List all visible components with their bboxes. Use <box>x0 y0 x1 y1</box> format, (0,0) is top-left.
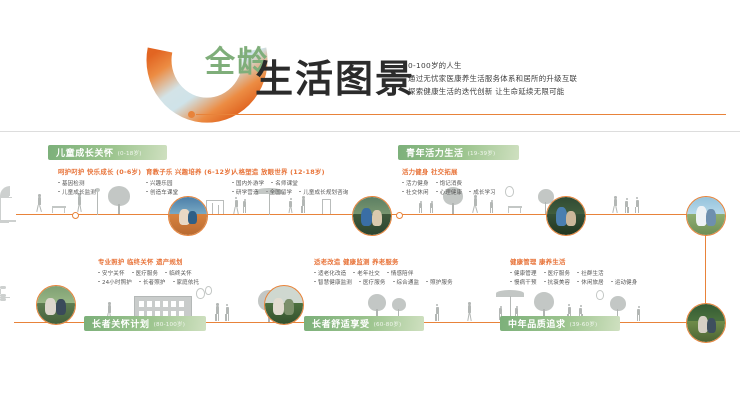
detail-head: 人格塑造 放眼世界 (12-18岁) <box>232 167 348 176</box>
detail-item: 抗衰美容 <box>544 278 571 286</box>
section-tag-children-title: 儿童成长关怀 <box>56 146 114 159</box>
detail-item: 心理健康 <box>436 188 463 196</box>
detail-item: 名师课堂 <box>271 179 298 187</box>
section-tag-midlife-age: (39-60岁) <box>570 320 598 328</box>
detail-item: 兴趣乐园 <box>146 179 173 187</box>
detail-item: 社群生活 <box>577 269 604 277</box>
subtitle-line-2: 通过无忧家医康养生活服务体系和居所的升级互联 <box>408 73 638 86</box>
photo-elder-pair[interactable] <box>36 285 76 325</box>
section-tag-youth-age: (19-39岁) <box>468 149 496 157</box>
detail-item: 医疗服务 <box>359 278 386 286</box>
section-tag-children[interactable]: 儿童成长关怀 (0-18岁) <box>48 145 167 160</box>
detail-item: 基因检测 <box>58 179 85 187</box>
detail-item: 国内外游学 <box>232 179 264 187</box>
detail-item: 智慧健康监测 <box>314 278 352 286</box>
detail-item: 创造车课堂 <box>146 188 178 196</box>
photo-midlife-walk-image <box>265 286 303 324</box>
detail-head: 育教子乐 兴趣培养 (6-12岁) <box>146 167 234 176</box>
detail-item: 成长学习 <box>469 188 496 196</box>
detail-children-group-2: 人格塑造 放眼世界 (12-18岁) 国内外游学 名师课堂 研学营造 全国留学 … <box>232 167 348 196</box>
detail-item: 医疗服务 <box>544 269 571 277</box>
section-tag-midlife[interactable]: 中年品质追求 (39-60岁) <box>500 316 620 331</box>
detail-item: 健康管理 <box>510 269 537 277</box>
detail-item: 情感陪伴 <box>387 269 414 277</box>
detail-head: 活力健身 社交拓展 <box>402 167 496 176</box>
subtitle-line-1: 0-100岁的人生 <box>408 60 638 73</box>
photo-couple-run[interactable] <box>686 196 726 236</box>
section-tag-children-age: (0-18岁) <box>118 149 142 157</box>
section-tag-youth-title: 青年活力生活 <box>406 146 464 159</box>
detail-head: 适老改造 健康监测 养老服务 <box>314 257 453 266</box>
detail-item: 儿童成长规划咨询 <box>299 188 348 196</box>
section-tag-eldercomfort-title: 长者舒适享受 <box>312 317 370 330</box>
detail-eldercare-group-0: 专业照护 临终关怀 遗产规划 安宁关怀 医疗服务 临终关怀 24小时照护 长者照… <box>98 257 199 286</box>
page-title: 生活图景 <box>255 60 415 98</box>
photo-midlife-walk[interactable] <box>264 285 304 325</box>
photo-teen-group[interactable] <box>352 196 392 236</box>
detail-head: 健康管理 康养生活 <box>510 257 637 266</box>
detail-item: 24小时照护 <box>98 278 132 286</box>
photo-child-bike-image <box>169 197 207 235</box>
infographic-canvas: 全龄 生活图景 0-100岁的人生 通过无忧家医康养生活服务体系和居所的升级互联… <box>0 0 740 416</box>
detail-item: 适老化改造 <box>314 269 346 277</box>
detail-item: 全国留学 <box>266 188 293 196</box>
photo-couple-run-image <box>687 197 725 235</box>
header-subtitle: 0-100岁的人生 通过无忧家医康养生活服务体系和居所的升级互联 探索健康生活的… <box>408 60 638 99</box>
detail-item: 综合通监 <box>393 278 420 286</box>
photo-teen-group-image <box>353 197 391 235</box>
detail-item: 休闲旅居 <box>577 278 604 286</box>
header-rule-dot <box>188 111 195 118</box>
detail-item: 饱记消费 <box>436 179 463 187</box>
detail-head: 呵护叼护 快乐成长 (0-6岁) <box>58 167 141 176</box>
detail-children-group-0: 呵护叼护 快乐成长 (0-6岁) 基因检测 儿童成长监测 <box>58 167 141 196</box>
detail-item: 儿童成长监测 <box>58 188 96 196</box>
header: 全龄 生活图景 0-100岁的人生 通过无忧家医康养生活服务体系和居所的升级互联… <box>0 0 740 132</box>
detail-item: 临终关怀 <box>165 269 192 277</box>
photo-youth-family[interactable] <box>546 196 586 236</box>
section-tag-eldercomfort[interactable]: 长者舒适享受 (60-80岁) <box>304 316 424 331</box>
detail-item: 研学营造 <box>232 188 259 196</box>
header-divider <box>0 131 740 132</box>
detail-item: 运动健身 <box>611 278 638 286</box>
detail-item: 老年社交 <box>353 269 380 277</box>
detail-item: 慢病干预 <box>510 278 537 286</box>
photo-youth-family-image <box>547 197 585 235</box>
section-tag-youth[interactable]: 青年活力生活 (19-39岁) <box>398 145 519 160</box>
detail-item: 长者照护 <box>139 278 166 286</box>
detail-item: 活力健身 <box>402 179 429 187</box>
photo-elder-garden[interactable] <box>686 303 726 343</box>
section-tag-eldercare-title: 长者关怀计划 <box>92 317 150 330</box>
detail-eldercomfort-group-0: 适老改造 健康监测 养老服务 适老化改造 老年社交 情感陪伴 智慧健康监测 医疗… <box>314 257 453 286</box>
subtitle-line-3: 探索健康生活的迭代创新 让生命延续无限可能 <box>408 86 638 99</box>
detail-item: 安宁关怀 <box>98 269 125 277</box>
photo-elder-pair-image <box>37 286 75 324</box>
photo-child-bike[interactable] <box>168 196 208 236</box>
detail-youth-group-0: 活力健身 社交拓展 活力健身 饱记消费 社交休闲 心理健康 成长学习 <box>402 167 496 196</box>
detail-children-group-1: 育教子乐 兴趣培养 (6-12岁) 兴趣乐园 创造车课堂 <box>146 167 234 196</box>
detail-item: 医疗服务 <box>132 269 159 277</box>
detail-item: 家庭依托 <box>173 278 200 286</box>
detail-midlife-group-0: 健康管理 康养生活 健康管理 医疗服务 社群生活 慢病干预 抗衰美容 休闲旅居 … <box>510 257 637 286</box>
section-tag-midlife-title: 中年品质追求 <box>508 317 566 330</box>
header-rule <box>196 114 726 115</box>
section-tag-eldercomfort-age: (60-80岁) <box>374 320 402 328</box>
section-tag-eldercare[interactable]: 长者关怀计划 (80-100岁) <box>84 316 206 331</box>
section-tag-eldercare-age: (80-100岁) <box>154 320 186 328</box>
photo-elder-garden-image <box>687 304 725 342</box>
detail-item: 照护服务 <box>426 278 453 286</box>
detail-head: 专业照护 临终关怀 遗产规划 <box>98 257 199 266</box>
detail-item: 社交休闲 <box>402 188 429 196</box>
